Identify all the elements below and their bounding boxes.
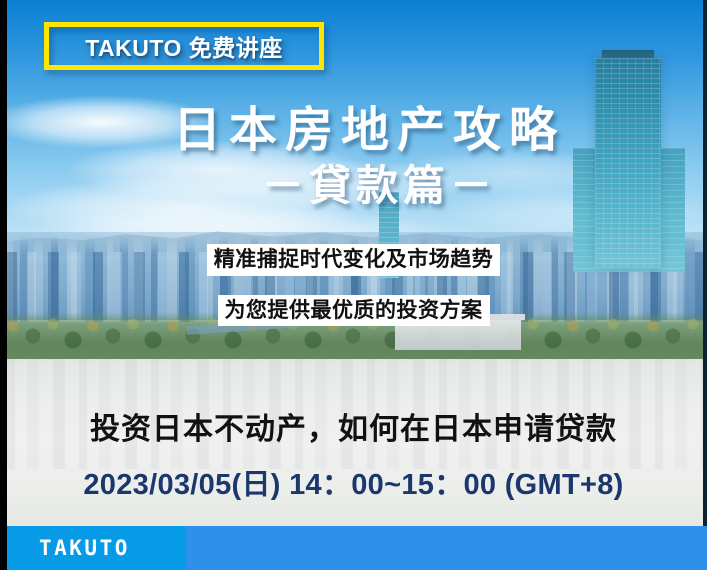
highlight-line: 精准捕捉时代变化及市场趋势 — [207, 244, 501, 276]
poster-title-main: 日本房地产攻略 — [173, 90, 565, 160]
right-edge-band — [703, 0, 707, 526]
skyscraper-tower — [595, 58, 661, 268]
takuto-logo: TAKUTO — [39, 526, 130, 570]
event-info: 投资日本不动产，如何在日本申请贷款 2023/03/05(日) 14：00~15… — [0, 404, 707, 503]
left-edge-band — [0, 0, 7, 570]
webinar-poster: TAKUTO 免费讲座 日本房地产攻略 －貸款篇－ 精准捕捉时代变化及市场趋势 … — [0, 0, 707, 570]
event-topic: 投资日本不动产，如何在日本申请贷款 — [0, 404, 707, 448]
poster-title-subtitle: －貸款篇－ — [262, 152, 497, 213]
highlight-list: 精准捕捉时代变化及市场趋势 为您提供最优质的投资方案 — [0, 244, 707, 326]
footer-bar: TAKUTO — [0, 526, 707, 570]
free-seminar-badge-label: TAKUTO 免费讲座 — [49, 27, 319, 65]
free-seminar-badge: TAKUTO 免费讲座 — [44, 22, 324, 70]
footer-right-block — [186, 526, 707, 570]
highlight-line: 为您提供最优质的投资方案 — [218, 295, 490, 327]
event-datetime: 2023/03/05(日) 14：00~15：00 (GMT+8) — [0, 461, 707, 503]
